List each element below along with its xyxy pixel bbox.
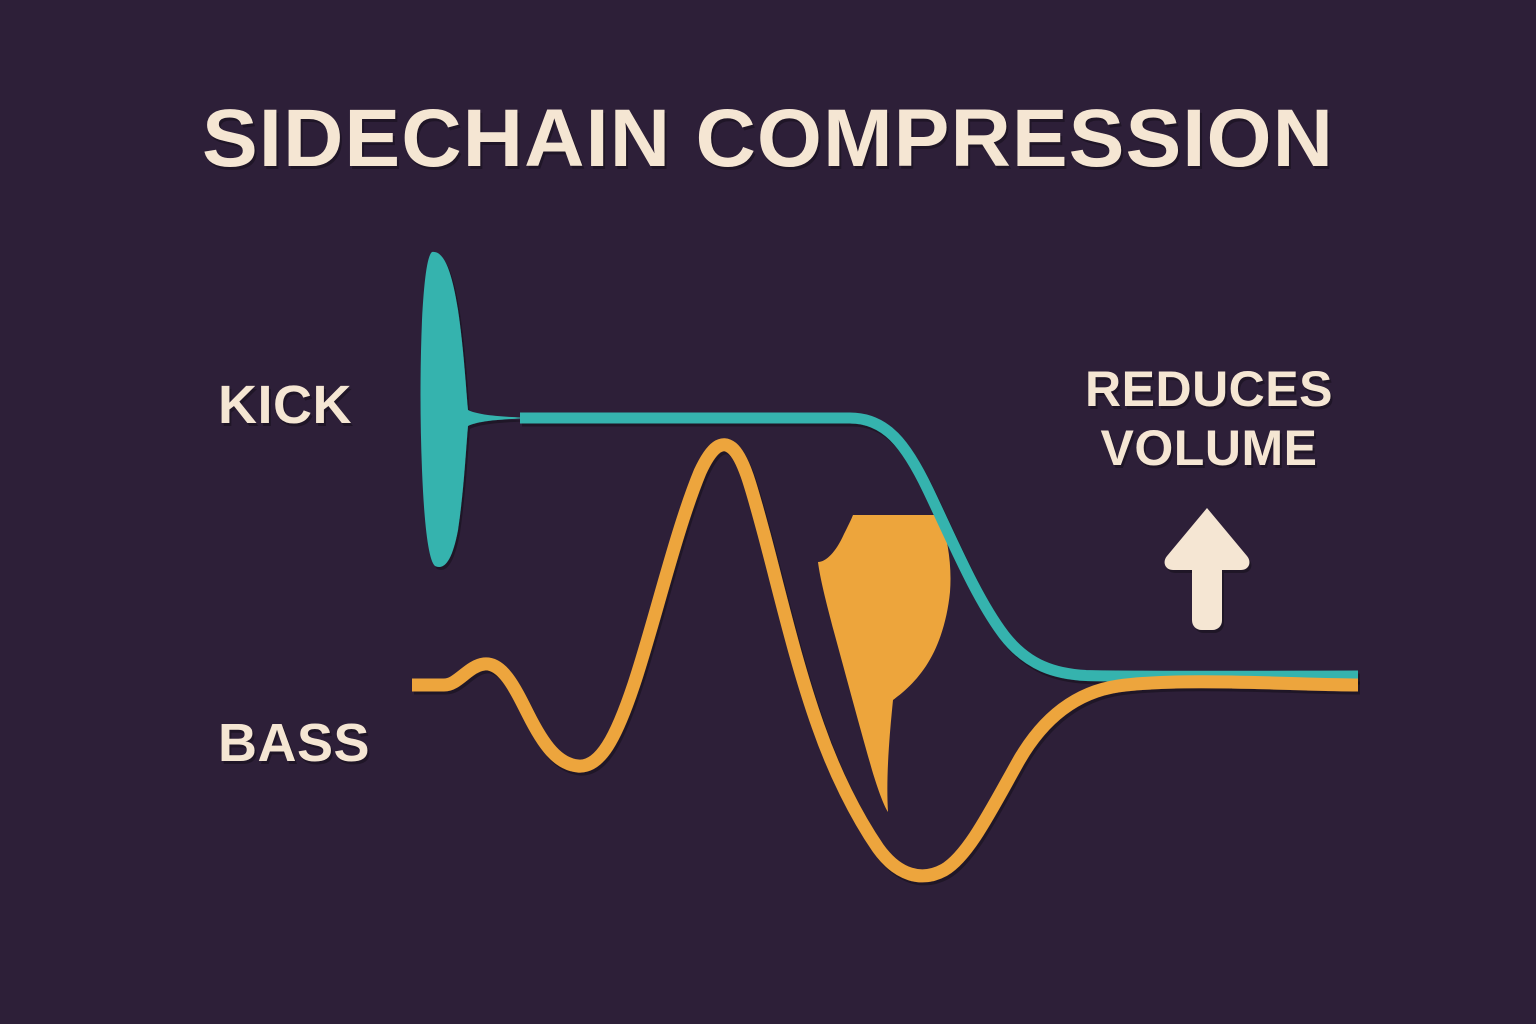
series-label-bass: BASS bbox=[218, 716, 370, 770]
arrow-up-icon bbox=[1165, 508, 1250, 630]
series-label-kick: KICK bbox=[218, 378, 352, 432]
annotation-reduces-volume: REDUCES VOLUME bbox=[1054, 360, 1364, 478]
annotation-line-2: VOLUME bbox=[1054, 419, 1364, 478]
page-title: SIDECHAIN COMPRESSION bbox=[0, 98, 1536, 180]
infographic-canvas: SIDECHAIN COMPRESSION KICK BASS REDUCES … bbox=[0, 0, 1536, 1024]
annotation-line-1: REDUCES bbox=[1054, 360, 1364, 419]
